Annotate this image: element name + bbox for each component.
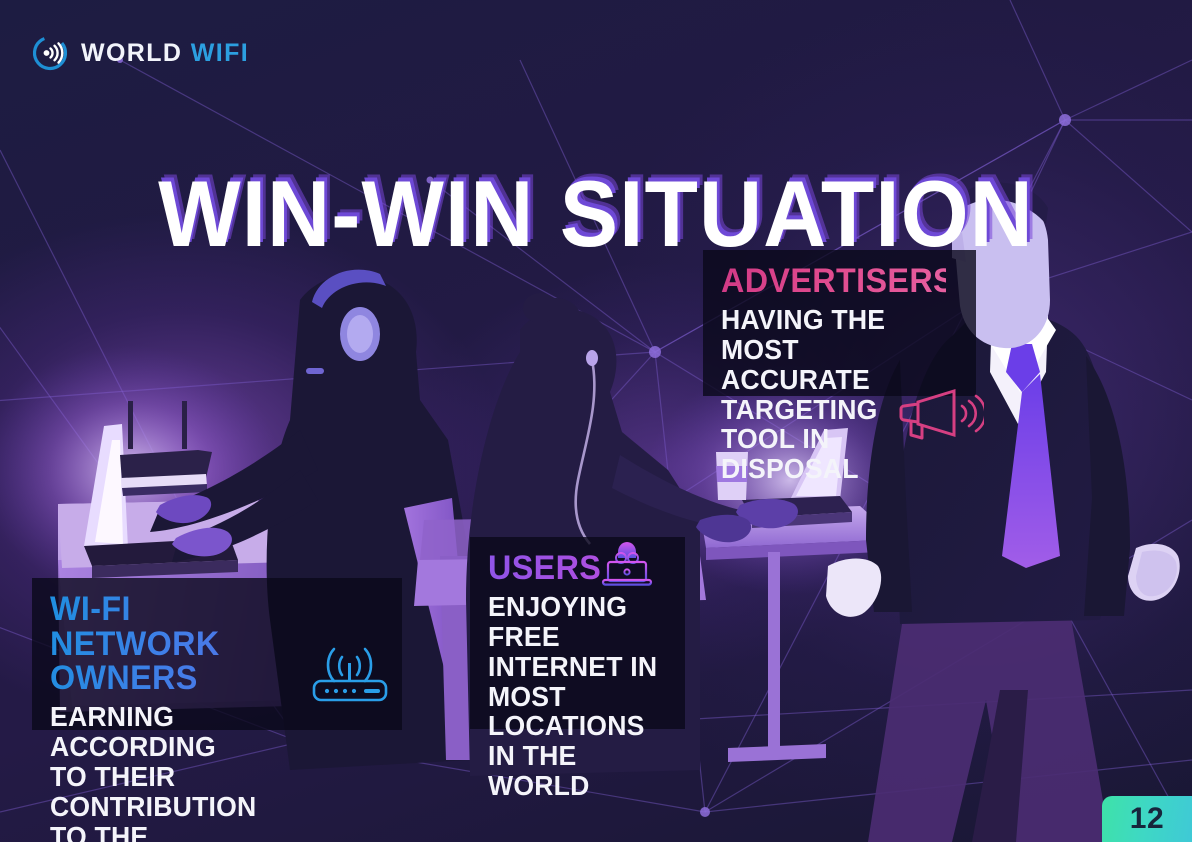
panel-body-users: ENJOYING FREE INTERNET IN MOST LOCATIONS… <box>488 592 658 802</box>
page-title: WIN-WIN SITUATION <box>42 167 1151 261</box>
brand-name-wifi: WIFI <box>191 39 249 67</box>
wifi-circle-icon <box>30 33 70 73</box>
panel-advertisers: ADVERTISERS HAVING THE MOST ACCURATE TAR… <box>703 250 976 396</box>
panel-heading-owners: WI-FI NETWORK OWNERS <box>50 592 297 696</box>
panel-body-owners: EARNING ACCORDING TO THEIR CONTRIBUTION … <box>50 702 297 842</box>
megaphone-icon <box>896 388 984 442</box>
panel-heading-advertisers: ADVERTISERS <box>721 264 946 299</box>
router-icon <box>310 641 390 703</box>
brand-name-world: WORLD <box>81 39 182 67</box>
brand-wordmark: WORLDWIFI <box>81 41 249 66</box>
page-number-badge: 12 <box>1102 796 1192 842</box>
person-at-laptop-icon <box>596 534 658 588</box>
brand-logo[interactable]: WORLDWIFI <box>30 33 249 73</box>
page-number-value: 12 <box>1130 802 1165 836</box>
slide-canvas: WORLDWIFI WIN-WIN SITUATION WI-FI NETWOR… <box>0 0 1192 842</box>
